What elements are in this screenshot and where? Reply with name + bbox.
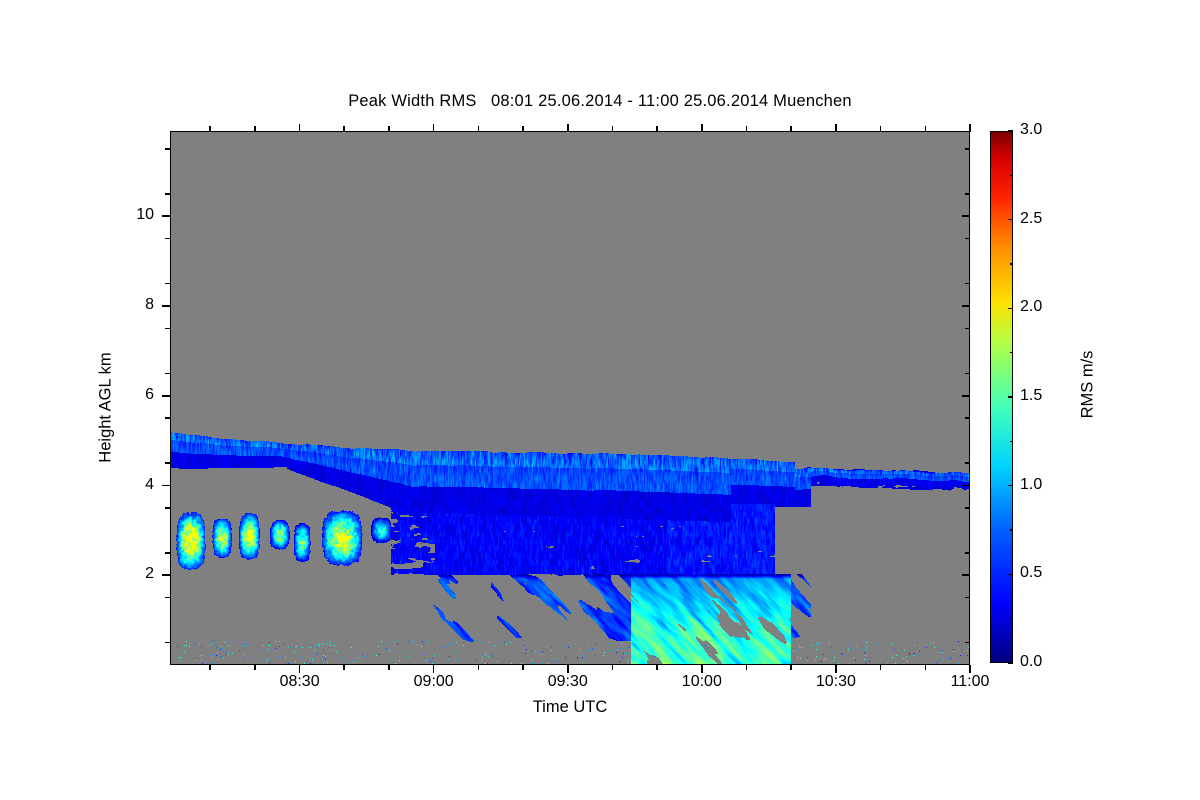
x-tick-minor xyxy=(254,665,256,670)
colorbar-tick-label: 1.0 xyxy=(1020,476,1080,494)
x-tick-minor-top xyxy=(209,126,211,131)
x-tick-minor-top xyxy=(343,126,345,131)
x-tick-major-top xyxy=(835,124,837,132)
y-tick-major xyxy=(162,305,170,307)
y-tick-minor-right xyxy=(965,462,970,464)
y-tick-minor-right xyxy=(965,597,970,599)
colorbar-tick-minor xyxy=(1010,441,1013,442)
x-tick-minor-top xyxy=(388,126,390,131)
y-tick-minor xyxy=(165,417,170,419)
x-tick-minor-top xyxy=(478,126,480,131)
y-tick-minor-right xyxy=(965,148,970,150)
y-tick-label: 4 xyxy=(114,476,154,494)
x-tick-major xyxy=(299,665,301,673)
page-title: Peak Width RMS 08:01 25.06.2014 - 11:00 … xyxy=(0,92,1200,111)
colorbar-tick-label: 0.5 xyxy=(1020,564,1080,582)
y-tick-minor xyxy=(165,507,170,509)
colorbar-tick xyxy=(1008,485,1013,486)
colorbar-tick xyxy=(1008,308,1013,309)
x-tick-minor-top xyxy=(746,126,748,131)
y-tick-minor xyxy=(165,642,170,644)
x-tick-minor xyxy=(925,665,927,670)
colorbar-tick-minor xyxy=(1010,352,1013,353)
x-tick-major-top xyxy=(567,124,569,132)
colorbar-tick-label: 3.0 xyxy=(1020,121,1080,139)
figure-canvas: Peak Width RMS 08:01 25.06.2014 - 11:00 … xyxy=(0,0,1200,800)
x-tick-major xyxy=(433,665,435,673)
y-axis-label: Height AGL km xyxy=(97,298,116,518)
colorbar-tick xyxy=(1008,219,1013,220)
colorbar-tick-minor xyxy=(1010,618,1013,619)
colorbar-tick-label: 2.5 xyxy=(1020,210,1080,228)
heatmap-plot-area[interactable] xyxy=(170,131,970,665)
y-tick-minor-right xyxy=(965,328,970,330)
y-tick-label: 10 xyxy=(114,206,154,224)
y-tick-minor-right xyxy=(965,238,970,240)
colorbar-tick-label: 0.0 xyxy=(1020,653,1080,671)
x-tick-major xyxy=(567,665,569,673)
colorbar-tick xyxy=(1008,396,1013,397)
y-tick-minor xyxy=(165,373,170,375)
y-tick-major-right xyxy=(962,215,970,217)
x-tick-label: 11:00 xyxy=(925,673,1015,691)
x-tick-minor xyxy=(790,665,792,670)
y-tick-label: 8 xyxy=(114,296,154,314)
y-tick-major xyxy=(162,395,170,397)
y-tick-major xyxy=(162,215,170,217)
y-tick-minor-right xyxy=(965,552,970,554)
y-tick-minor-right xyxy=(965,642,970,644)
x-tick-minor-top xyxy=(612,126,614,131)
y-tick-minor xyxy=(165,238,170,240)
colorbar-tick-minor xyxy=(1010,175,1013,176)
x-tick-minor-top xyxy=(656,126,658,131)
x-tick-major xyxy=(969,665,971,673)
y-tick-minor-right xyxy=(965,373,970,375)
colorbar-tick-label: 1.5 xyxy=(1020,387,1080,405)
x-tick-major xyxy=(835,665,837,673)
x-tick-minor-top xyxy=(254,126,256,131)
y-tick-minor xyxy=(165,148,170,150)
y-tick-major xyxy=(162,574,170,576)
y-tick-minor xyxy=(165,462,170,464)
x-tick-minor xyxy=(522,665,524,670)
x-tick-minor-top xyxy=(880,126,882,131)
y-tick-minor xyxy=(165,597,170,599)
x-tick-minor xyxy=(478,665,480,670)
x-tick-label: 09:00 xyxy=(389,673,479,691)
y-tick-major-right xyxy=(962,395,970,397)
x-tick-label: 10:30 xyxy=(791,673,881,691)
x-tick-label: 10:00 xyxy=(657,673,747,691)
x-tick-major xyxy=(701,665,703,673)
x-axis-label: Time UTC xyxy=(170,698,970,717)
x-tick-minor-top xyxy=(925,126,927,131)
y-tick-minor xyxy=(165,552,170,554)
y-tick-minor xyxy=(165,328,170,330)
x-tick-minor xyxy=(746,665,748,670)
colorbar-tick xyxy=(1008,662,1013,663)
x-tick-minor xyxy=(209,665,211,670)
heatmap-image xyxy=(171,132,970,665)
x-tick-minor xyxy=(388,665,390,670)
colorbar-tick xyxy=(1008,130,1013,131)
x-tick-minor xyxy=(343,665,345,670)
x-tick-major-top xyxy=(969,124,971,132)
colorbar-label: RMS m/s xyxy=(1079,275,1098,495)
y-tick-major-right xyxy=(962,305,970,307)
y-tick-minor-right xyxy=(965,417,970,419)
x-tick-minor-top xyxy=(522,126,524,131)
x-tick-minor xyxy=(612,665,614,670)
y-tick-major xyxy=(162,485,170,487)
y-tick-major-right xyxy=(962,574,970,576)
x-tick-label: 09:30 xyxy=(523,673,613,691)
y-tick-label: 6 xyxy=(114,386,154,404)
y-tick-minor xyxy=(165,193,170,195)
y-tick-minor-right xyxy=(965,193,970,195)
colorbar-tick-label: 2.0 xyxy=(1020,298,1080,316)
colorbar-tick xyxy=(1008,574,1013,575)
y-tick-minor-right xyxy=(965,283,970,285)
y-tick-minor-right xyxy=(965,507,970,509)
y-tick-major-right xyxy=(962,485,970,487)
y-tick-minor xyxy=(165,283,170,285)
x-tick-label: 08:30 xyxy=(255,673,345,691)
x-tick-major-top xyxy=(299,124,301,132)
x-tick-minor xyxy=(880,665,882,670)
x-tick-minor-top xyxy=(790,126,792,131)
colorbar-tick-minor xyxy=(1010,263,1013,264)
y-tick-label: 2 xyxy=(114,565,154,583)
x-tick-major-top xyxy=(433,124,435,132)
x-tick-major-top xyxy=(701,124,703,132)
colorbar-tick-minor xyxy=(1010,529,1013,530)
x-tick-minor xyxy=(656,665,658,670)
